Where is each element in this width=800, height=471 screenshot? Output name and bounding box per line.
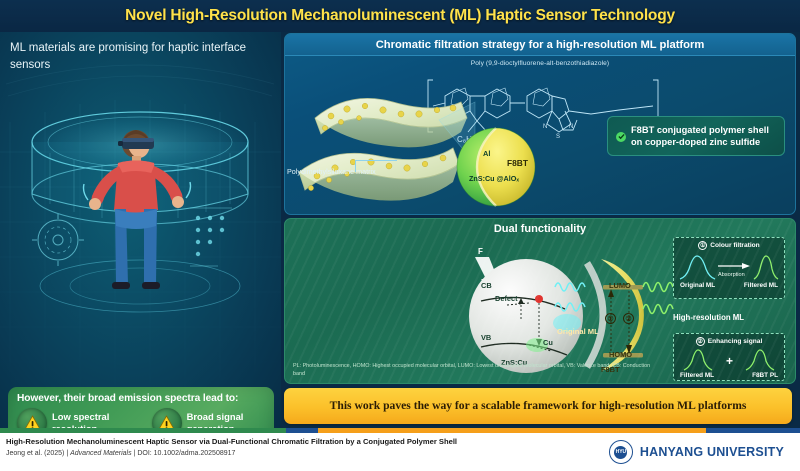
polymer-shell-callout-text: F8BT conjugated polymer shell on copper-… [631, 124, 776, 148]
dual-functionality-panel: Dual functionality F [284, 218, 796, 384]
poster-title: Novel High-Resolution Mechanoluminescent… [125, 7, 675, 25]
paper-meta: Jeong et al. (2025) | Advanced Materials… [6, 450, 457, 457]
paper-authors: Jeong et al. (2025) [6, 450, 64, 457]
high-resolution-ml-label: High-resolution ML [673, 313, 744, 322]
inset-2-left-label: Filtered ML [680, 372, 714, 379]
list-item-label: Low spectral resolution [52, 411, 138, 428]
conclusion-banner: This work paves the way for a scalable f… [284, 388, 792, 424]
chromatic-filtration-heading: Chromatic filtration strategy for a high… [285, 34, 795, 56]
polymer-shell-callout: F8BT conjugated polymer shell on copper-… [607, 116, 785, 156]
force-label: F [478, 247, 483, 256]
svg-text:S: S [556, 134, 560, 140]
band-label-homo: HOMO [609, 350, 632, 359]
institution-logo: HYU HANYANG UNIVERSITY [609, 440, 784, 464]
limitations-panel: However, their broad emission spectra le… [8, 387, 274, 428]
meta-separator-2: | [134, 450, 136, 457]
inset-2-title: Enhancing signal [708, 338, 763, 345]
citation-block: High-Resolution Mechanoluminescent Hapti… [6, 437, 457, 457]
limitations-heading: However, their broad emission spectra le… [8, 387, 274, 404]
matrix-label: Polydimethylsiloxane matrix [287, 167, 383, 176]
inset-1-footer: Original ML Filtered ML [674, 282, 784, 289]
band-label-cb: CB [481, 281, 492, 290]
inset-2-number: ② [696, 337, 705, 346]
list-item: Low spectral resolution [17, 408, 138, 428]
chromatic-filtration-panel: Chromatic filtration strategy for a high… [284, 33, 796, 215]
left-lede-text: ML materials are promising for haptic in… [10, 40, 260, 73]
limitations-list: Low spectral resolution Broad signal gen… [8, 404, 274, 428]
check-circle-icon [616, 132, 626, 142]
particle-label-f8bt: F8BT [507, 158, 528, 168]
inset-1-left-label: Original ML [680, 282, 715, 289]
warning-triangle-icon [17, 408, 47, 428]
infographic-poster: Novel High-Resolution Mechanoluminescent… [0, 0, 800, 471]
inset-1-right-label: Filtered ML [744, 282, 778, 289]
inset-2-heading: ② Enhancing signal [674, 334, 784, 346]
band-label-cu: Cu [543, 338, 553, 347]
inset-2-right-label: F8BT PL [752, 372, 778, 379]
paper-doi: DOI: 10.1002/adma.202508917 [137, 450, 235, 457]
poster-footer: High-Resolution Mechanoluminescent Hapti… [0, 428, 800, 471]
inset-1-heading: ① Colour filtration [674, 238, 784, 250]
transition-marker-2: ② [623, 313, 634, 324]
svg-text:N: N [543, 124, 547, 130]
poster-title-bar: Novel High-Resolution Mechanoluminescent… [0, 0, 800, 32]
inset-1-title: Colour filtration [710, 242, 759, 249]
composite-film-illustration [289, 72, 479, 208]
paper-title: High-Resolution Mechanoluminescent Hapti… [6, 437, 457, 447]
band-label-lumo: LUMO [609, 281, 631, 290]
university-seal-icon: HYU [609, 440, 633, 464]
paper-journal: Advanced Materials [70, 450, 131, 457]
svg-text:N: N [569, 124, 573, 130]
inset-enhancing-signal: ② Enhancing signal + Filtered ML F8BT PL [673, 333, 785, 381]
conclusion-banner-text: This work paves the way for a scalable f… [330, 399, 747, 413]
left-illustration-panel: ML materials are promising for haptic in… [0, 32, 281, 428]
high-resolution-ml-waveform [641, 275, 677, 331]
list-item: Broad signal generation [152, 408, 274, 428]
list-item-label: Broad signal generation [187, 411, 274, 428]
particle-label-core: ZnS:Cu @AlOₓ [469, 175, 519, 183]
warning-triangle-icon [152, 408, 182, 428]
inset-1-number: ① [698, 241, 707, 250]
particle-label-al: Al [483, 149, 490, 158]
meta-separator-1: | [66, 450, 68, 457]
inset-1-arrow-label: Absorption [718, 272, 745, 278]
inset-colour-filtration: ① Colour filtration Absorption Original … [673, 237, 785, 299]
inset-2-operator: + [726, 354, 733, 368]
footer-colour-stripe [0, 428, 800, 433]
vr-user-figure-illustration [82, 114, 198, 374]
institution-name: HANYANG UNIVERSITY [640, 445, 784, 459]
band-label-defect: Defect [495, 294, 518, 303]
abbreviation-footnote: PL: Photoluminescence, HOMO: Highest occ… [293, 363, 653, 379]
inset-2-footer: Filtered ML F8BT PL [674, 372, 784, 379]
band-label-vb: VB [481, 333, 491, 342]
transition-marker-1: ① [605, 313, 616, 324]
dual-functionality-heading: Dual functionality [285, 223, 795, 235]
seal-inner-text: HYU [614, 446, 627, 459]
